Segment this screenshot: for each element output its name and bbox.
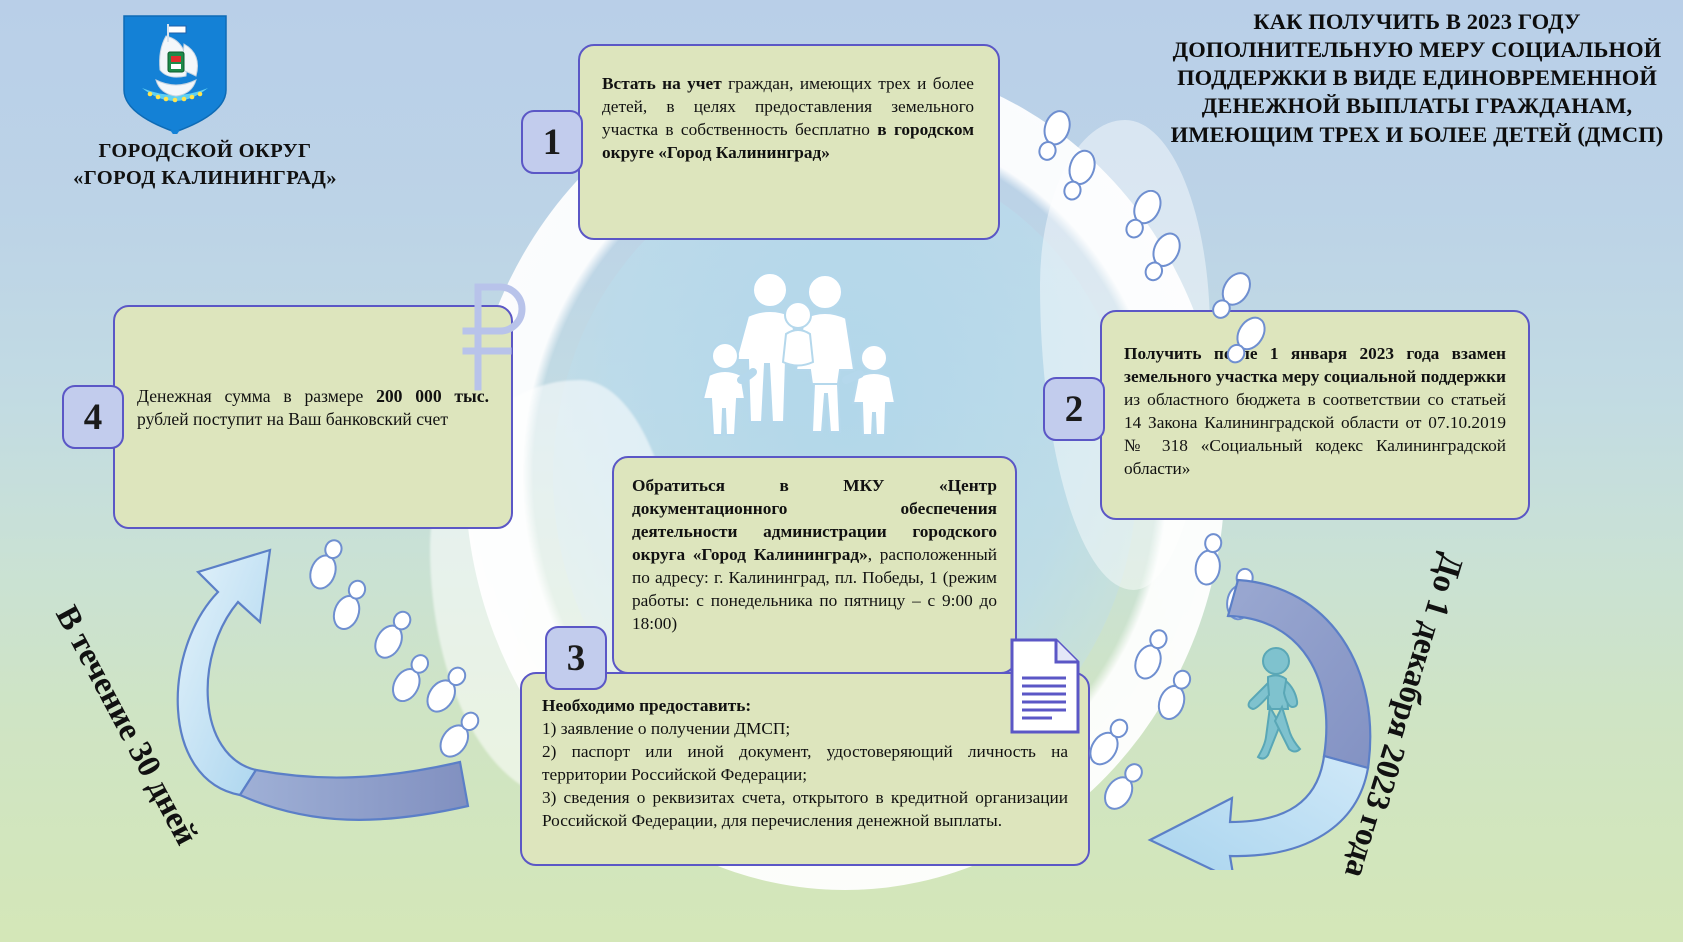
- documents-item-2: 2) паспорт или иной документ, удостоверя…: [542, 740, 1068, 786]
- step-3-box: Обратиться в МКУ «Центр документационног…: [612, 456, 1017, 674]
- step-2-bold-1: Получить после 1 января 2023 года взамен…: [1124, 344, 1506, 386]
- step-badge-3[interactable]: 3: [545, 626, 607, 690]
- step-badge-2[interactable]: 2: [1043, 377, 1105, 441]
- step-2-plain-1: из областного бюджета в соответствии со …: [1124, 390, 1506, 478]
- municipality-line-2: «ГОРОД КАЛИНИНГРАД»: [20, 165, 390, 192]
- rouble-sign-icon: [452, 275, 532, 395]
- kaliningrad-coat-of-arms-icon: [120, 14, 230, 134]
- step-3-documents-box: Необходимо предоставить: 1) заявление о …: [520, 672, 1090, 866]
- footprints-icon: [1020, 110, 1110, 220]
- documents-item-1: 1) заявление о получении ДМСП;: [542, 717, 1068, 740]
- step-2-text: Получить после 1 января 2023 года взамен…: [1124, 342, 1506, 480]
- municipality-label: ГОРОДСКОЙ ОКРУГ «ГОРОД КАЛИНИНГРАД»: [20, 138, 390, 193]
- municipality-line-1: ГОРОДСКОЙ ОКРУГ: [20, 138, 390, 165]
- step-4-text: Денежная сумма в размере 200 000 тыс. ру…: [137, 385, 489, 432]
- documents-item-3: 3) сведения о реквизитах счета, открытог…: [542, 786, 1068, 832]
- step-4-plain-2: рублей поступит на Ваш банковский счет: [137, 409, 448, 429]
- footprints-icon: [1105, 190, 1195, 300]
- family-icon: [662, 268, 922, 448]
- step-2-box: Получить после 1 января 2023 года взамен…: [1100, 310, 1530, 520]
- step-badge-4[interactable]: 4: [62, 385, 124, 449]
- infographic-canvas: В течение 30 дней До 1 декабря 2023 года…: [0, 0, 1683, 942]
- step-4-plain-1: Денежная сумма в размере: [137, 386, 376, 406]
- walking-person-icon: [1238, 645, 1310, 765]
- page-title: КАК ПОЛУЧИТЬ В 2023 ГОДУ ДОПОЛНИТЕЛЬНУЮ …: [1167, 8, 1667, 149]
- step-1-text: Встать на учет граждан, имеющих трех и б…: [602, 72, 974, 164]
- footprints-icon: [1190, 272, 1280, 382]
- step-1-bold-1: Встать на учет: [602, 74, 722, 93]
- document-icon: [1008, 632, 1082, 736]
- documents-heading: Необходимо предоставить:: [542, 694, 1068, 717]
- step-1-box: Встать на учет граждан, имеющих трех и б…: [578, 44, 1000, 240]
- step-badge-1[interactable]: 1: [521, 110, 583, 174]
- cycle-arrow-left: [120, 530, 480, 830]
- step-3-text: Обратиться в МКУ «Центр документационног…: [632, 474, 997, 635]
